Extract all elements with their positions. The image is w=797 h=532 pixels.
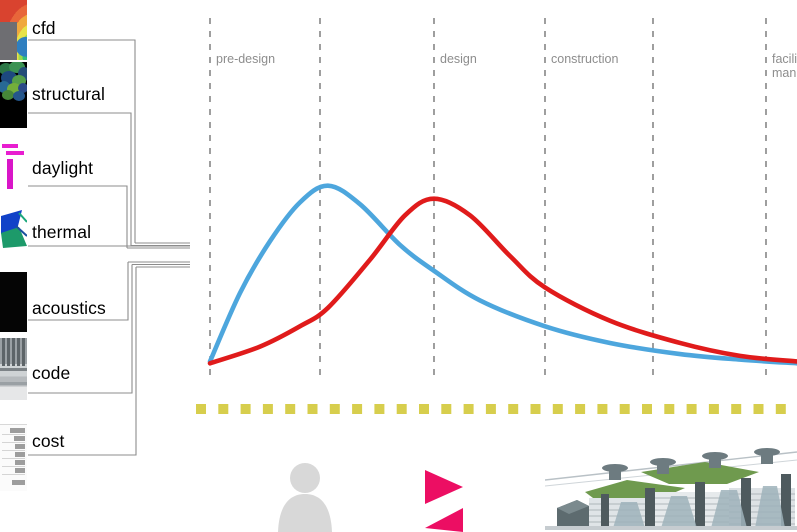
timeline-marker: [731, 404, 741, 414]
timeline-marker: [531, 404, 541, 414]
timeline-marker: [308, 404, 318, 414]
timeline-marker: [642, 404, 652, 414]
building-3d-render: [545, 446, 797, 532]
timeline-marker: [776, 404, 786, 414]
timeline-marker: [508, 404, 518, 414]
timeline-marker: [352, 404, 362, 414]
yellow-dotted-timeline: [196, 404, 786, 414]
timeline-marker: [419, 404, 429, 414]
timeline-marker: [218, 404, 228, 414]
traditional-effort-curve: [210, 186, 797, 364]
play-triangle-right-icon[interactable]: [425, 470, 463, 504]
timeline-marker: [486, 404, 496, 414]
timeline-marker: [330, 404, 340, 414]
effort-curves: [210, 186, 797, 364]
timeline-marker: [241, 404, 251, 414]
timeline-marker: [441, 404, 451, 414]
phase-label-design: design: [440, 52, 477, 66]
person-silhouette-icon: [277, 460, 333, 532]
integrated-effort-curve: [210, 199, 797, 364]
timeline-marker: [709, 404, 719, 414]
phase-label-construction: construction: [551, 52, 618, 66]
timeline-marker: [196, 404, 206, 414]
timeline-marker: [664, 404, 674, 414]
timeline-marker: [620, 404, 630, 414]
timeline-marker: [575, 404, 585, 414]
timeline-marker: [374, 404, 384, 414]
phase-label-pre-design: pre-design: [216, 52, 275, 66]
timeline-marker: [687, 404, 697, 414]
phase-label-facilities-management: faciliman: [772, 52, 797, 80]
phase-gridlines: [210, 18, 766, 379]
timeline-marker: [754, 404, 764, 414]
timeline-marker: [597, 404, 607, 414]
timeline-marker: [397, 404, 407, 414]
timeline-marker: [263, 404, 273, 414]
triangle-lower-left-icon[interactable]: [425, 508, 463, 532]
timeline-marker: [285, 404, 295, 414]
timeline-marker: [553, 404, 563, 414]
timeline-marker: [464, 404, 474, 414]
